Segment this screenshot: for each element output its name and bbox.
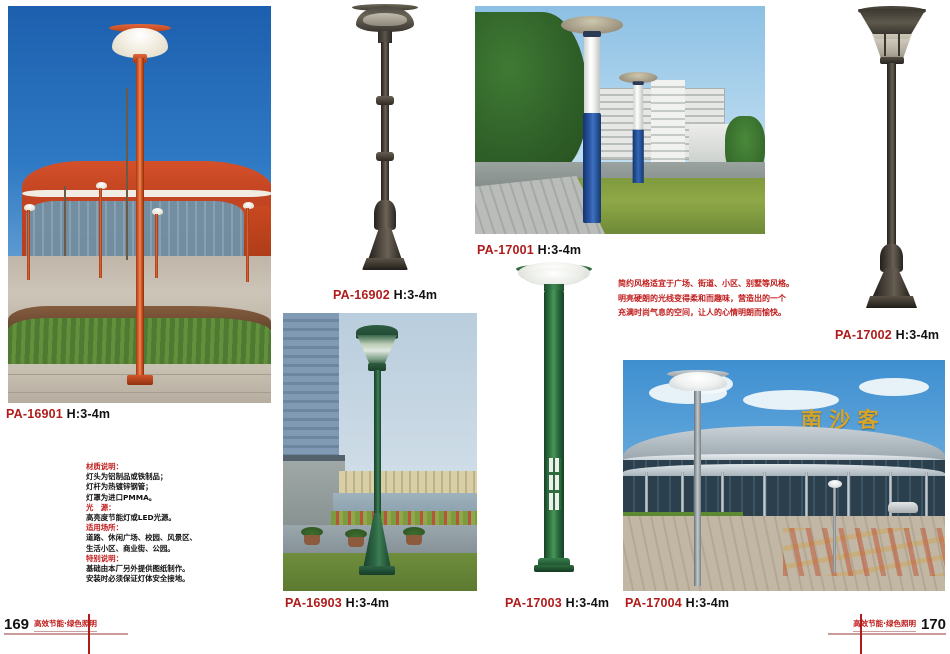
product-label-pa-17003: PA-17003 H:3-4m [505, 596, 609, 610]
pole-knuckle [376, 96, 394, 105]
product-dimension: H:3-4m [67, 407, 111, 421]
pole-skirt [872, 268, 911, 298]
parked-car [888, 502, 918, 513]
lantern-glass [872, 34, 912, 58]
product-dimension: H:3-4m [538, 243, 582, 257]
lamp-pole [887, 63, 896, 258]
plant-pot [348, 537, 364, 547]
glass-tower [283, 313, 339, 463]
lamp-pole [544, 290, 564, 562]
spec-material-line: 灯罩为进口PMMA。 [86, 493, 251, 503]
product-code: PA-16903 [285, 596, 342, 610]
spec-source-line: 高亮度节能灯或LED光源。 [86, 513, 251, 523]
specification-block: 材质说明： 灯头为铝制品或铁制品； 灯杆为热镀锌钢管； 灯罩为进口PMMA。 光… [86, 462, 251, 584]
spec-source-heading: 光 源： [86, 503, 251, 513]
lamp-pole [374, 370, 381, 520]
lamp-white-column [584, 37, 600, 113]
pole-swell [880, 244, 903, 272]
paragraph-line: 充满时尚气息的空间，让人的心情明朗而愉快。 [618, 306, 808, 321]
page-number-right: 170 [921, 617, 946, 632]
footer-slogan-right: 高效节能·绿色照明 [853, 618, 916, 632]
pergola [339, 471, 477, 493]
spec-material-line: 灯头为铝制品或铁制品； [86, 472, 251, 482]
product-cutout-pa-16902 [330, 4, 440, 279]
product-cutout-pa-17003 [500, 262, 610, 592]
lamp-white-column [633, 85, 643, 130]
pole-skirt [368, 228, 402, 260]
lamp-pole [694, 390, 701, 586]
product-dimension: H:3-4m [896, 328, 940, 342]
footer-right-group: 高效节能·绿色照明 170 [853, 617, 946, 632]
product-dimension: H:3-4m [394, 288, 438, 302]
lamp-base [866, 296, 917, 308]
product-code: PA-17001 [477, 243, 534, 257]
lamp-base-plate [534, 565, 574, 572]
lamp-foot [359, 566, 395, 575]
pole-swell [374, 200, 396, 230]
building-glass-facade [26, 201, 244, 263]
product-label-pa-17002: PA-17002 H:3-4m [835, 328, 939, 342]
product-dimension: H:3-4m [346, 596, 390, 610]
lamp-base [362, 258, 408, 270]
lamp-pole [833, 488, 836, 572]
product-cutout-pa-17002 [836, 4, 946, 319]
product-code: PA-17003 [505, 596, 562, 610]
spec-usage-line: 道路、休闲广场、校园、风景区、 [86, 533, 251, 543]
footer-rule-right [828, 633, 946, 635]
lamp-pole [381, 42, 389, 214]
spine-mark-left [88, 614, 90, 654]
spec-usage-heading: 适用场所： [86, 523, 251, 533]
product-code: PA-16901 [6, 407, 63, 421]
plant-pot [304, 535, 320, 545]
product-code: PA-16902 [333, 288, 390, 302]
product-photo-pa-16903 [283, 313, 477, 591]
product-photo-pa-17001 [475, 6, 765, 234]
product-dimension: H:3-4m [686, 596, 730, 610]
description-paragraph: 简约风格适宜于广场、街道、小区、别墅等风格。 明亮硬朗的光线变得柔和而趣味，营造… [618, 277, 808, 321]
footer-rule-left [4, 633, 128, 635]
lamp-dome [669, 372, 727, 391]
spec-material-line: 灯杆为热镀锌钢管； [86, 482, 251, 492]
lamp-blue-base [633, 130, 644, 183]
product-dimension: H:3-4m [566, 596, 610, 610]
product-label-pa-16901: PA-16901 H:3-4m [6, 407, 110, 421]
product-label-pa-16903: PA-16903 H:3-4m [285, 596, 389, 610]
plaza-pattern [783, 528, 945, 576]
tree-row [475, 12, 587, 172]
product-photo-pa-17004: 南 沙 客 [623, 360, 945, 591]
page-footer: 169 高效节能·绿色照明 高效节能·绿色照明 170 [0, 617, 950, 654]
lantern-glass [363, 13, 407, 26]
cloud [859, 378, 929, 396]
plant-pot [406, 535, 422, 545]
facade-column [925, 472, 928, 518]
spec-note-line: 基础由本厂另外提供图纸制作。 [86, 564, 251, 574]
lamp-blue-base [583, 113, 601, 223]
terminal-canopy [623, 464, 945, 476]
pole-knuckle [376, 152, 394, 161]
spec-note-heading: 特别说明： [86, 554, 251, 564]
lantern-glass-bar [884, 34, 886, 56]
paragraph-line: 简约风格适宜于广场、街道、小区、别墅等风格。 [618, 277, 808, 292]
paragraph-line: 明亮硬朗的光线变得柔和而趣味，营造出的一个 [618, 292, 808, 307]
pole-grid-window [547, 458, 561, 510]
lamp-dome [828, 480, 842, 488]
spec-material-heading: 材质说明： [86, 462, 251, 472]
product-label-pa-17004: PA-17004 H:3-4m [625, 596, 729, 610]
lamp-base [127, 375, 153, 385]
facade-column [763, 472, 766, 518]
spec-note-line: 安装时必须保证灯体安全接地。 [86, 574, 251, 584]
catalog-page: PA-16901 H:3-4m PA-16902 H:3-4m [0, 0, 950, 654]
bare-tree [126, 88, 128, 260]
product-label-pa-16902: PA-16902 H:3-4m [333, 288, 437, 302]
lamp-pole [136, 58, 144, 383]
facade-column [805, 472, 808, 518]
product-photo-pa-16901 [8, 6, 271, 403]
path-line [8, 392, 271, 393]
spec-usage-line: 生活小区、商业街、公园。 [86, 544, 251, 554]
lantern-glass-bar [898, 34, 900, 56]
bare-tree [64, 186, 66, 256]
facade-column [847, 472, 850, 518]
footer-left-group: 169 高效节能·绿色照明 [4, 617, 97, 632]
product-code: PA-17002 [835, 328, 892, 342]
spine-mark-right [860, 614, 862, 654]
page-number-left: 169 [4, 617, 29, 632]
product-label-pa-17001: PA-17001 H:3-4m [477, 243, 581, 257]
building-stripe [22, 190, 271, 197]
office-tower [651, 80, 685, 162]
product-code: PA-17004 [625, 596, 682, 610]
